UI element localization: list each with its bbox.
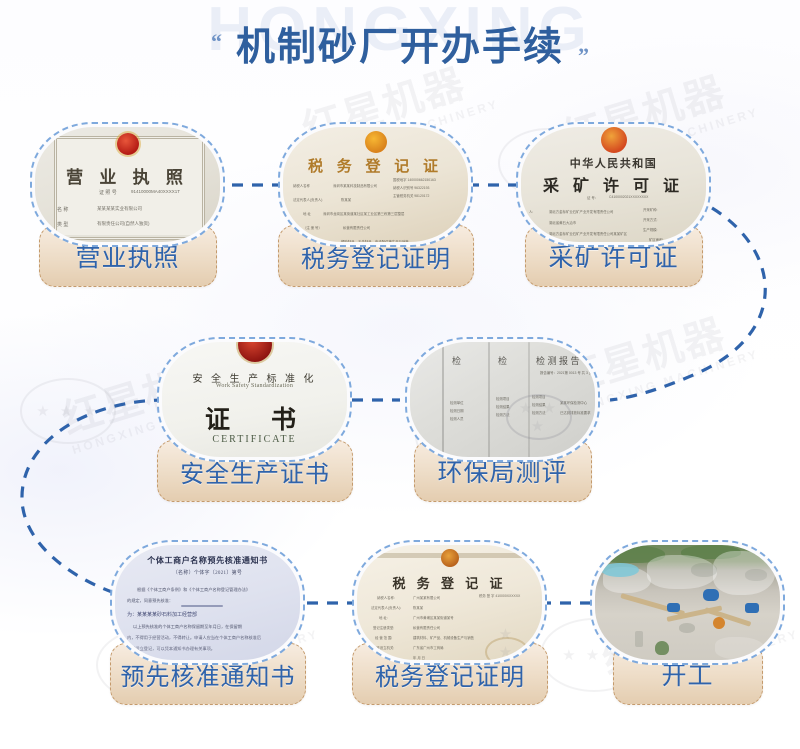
quote-close-icon: ” <box>578 45 589 67</box>
step-card-7[interactable]: 税 务 登 记 证 纳税人名称: 广州某某有限公司 法定代表人(负责人): 陈某… <box>352 540 548 705</box>
business-license-photo: 营 业 执 照 证 照 号 91410000MA40XXXX1T 名 称 某某某… <box>30 122 225 247</box>
step-card-1[interactable]: 营 业 执 照 证 照 号 91410000MA40XXXX1T 名 称 某某某… <box>30 122 225 287</box>
safety-production-certificate-photo: 安 全 生 产 标 准 化 Work Safety Standardizatio… <box>157 337 352 462</box>
doc-subtitle-4: CERTIFICATE <box>162 434 347 445</box>
watermark-ring-1 <box>20 378 116 444</box>
step-card-5[interactable]: 检 检 检 测 报 告 报告编号：2021第 0013 号 共 3 页 检测单位… <box>405 337 600 502</box>
step-card-4[interactable]: 安 全 生 产 标 准 化 Work Safety Standardizatio… <box>157 337 353 502</box>
doc-title-3-top: 中华人民共和国 <box>521 155 706 171</box>
step-card-8[interactable]: 开工 <box>590 540 785 705</box>
quarry-site-illustration <box>595 545 780 660</box>
infographic-canvas: HONGXING 红星机器 HONGXING MACHINERY 红星机器 HO… <box>0 0 800 749</box>
doc-subtitle-4-top: Work Safety Standardization <box>162 383 347 389</box>
step-card-2[interactable]: 税 务 登 记 证 纳税人名称 深圳市某某科技制品有限公司 国税地字 14000… <box>278 122 474 287</box>
environmental-assessment-photo: 检 检 检 测 报 告 报告编号：2021第 0013 号 共 3 页 检测单位… <box>405 337 600 462</box>
tax-registration-certificate-photo: 税 务 登 记 证 纳税人名称: 广州某某有限公司 法定代表人(负责人): 陈某… <box>352 540 547 665</box>
doc-sub-6: （名称）个体字〔2021〕第号 <box>115 569 300 576</box>
quote-open-icon: “ <box>211 31 222 53</box>
doc-title-2: 税 务 登 记 证 <box>283 155 468 176</box>
page-title-block: “ 机制砂厂开办手续 ” <box>0 28 800 67</box>
doc-title-6: 个体工商户名称预先核准通知书 <box>115 555 300 566</box>
doc-title-3: 采 矿 许 可 证 <box>521 172 706 196</box>
pre-approval-notice-photo: 个体工商户名称预先核准通知书 （名称）个体字〔2021〕第号 根据《个体工商户条… <box>110 540 305 665</box>
doc-title-1: 营 业 执 照 <box>35 163 220 188</box>
quarry-site-photo <box>590 540 785 665</box>
step-card-6[interactable]: 个体工商户名称预先核准通知书 （名称）个体字〔2021〕第号 根据《个体工商户条… <box>110 540 306 705</box>
doc-title-7: 税 务 登 记 证 <box>357 573 542 592</box>
mining-license-photo: 中华人民共和国 采 矿 许 可 证 证 号： C4100002021XXXXXX… <box>516 122 711 247</box>
doc-title-4: 证 书 <box>162 400 347 436</box>
step-card-3[interactable]: 中华人民共和国 采 矿 许 可 证 证 号： C4100002021XXXXXX… <box>516 122 711 287</box>
tax-registration-photo: 税 务 登 记 证 纳税人名称 深圳市某某科技制品有限公司 国税地字 14000… <box>278 122 473 247</box>
page-title: 机制砂厂开办手续 <box>236 28 564 67</box>
